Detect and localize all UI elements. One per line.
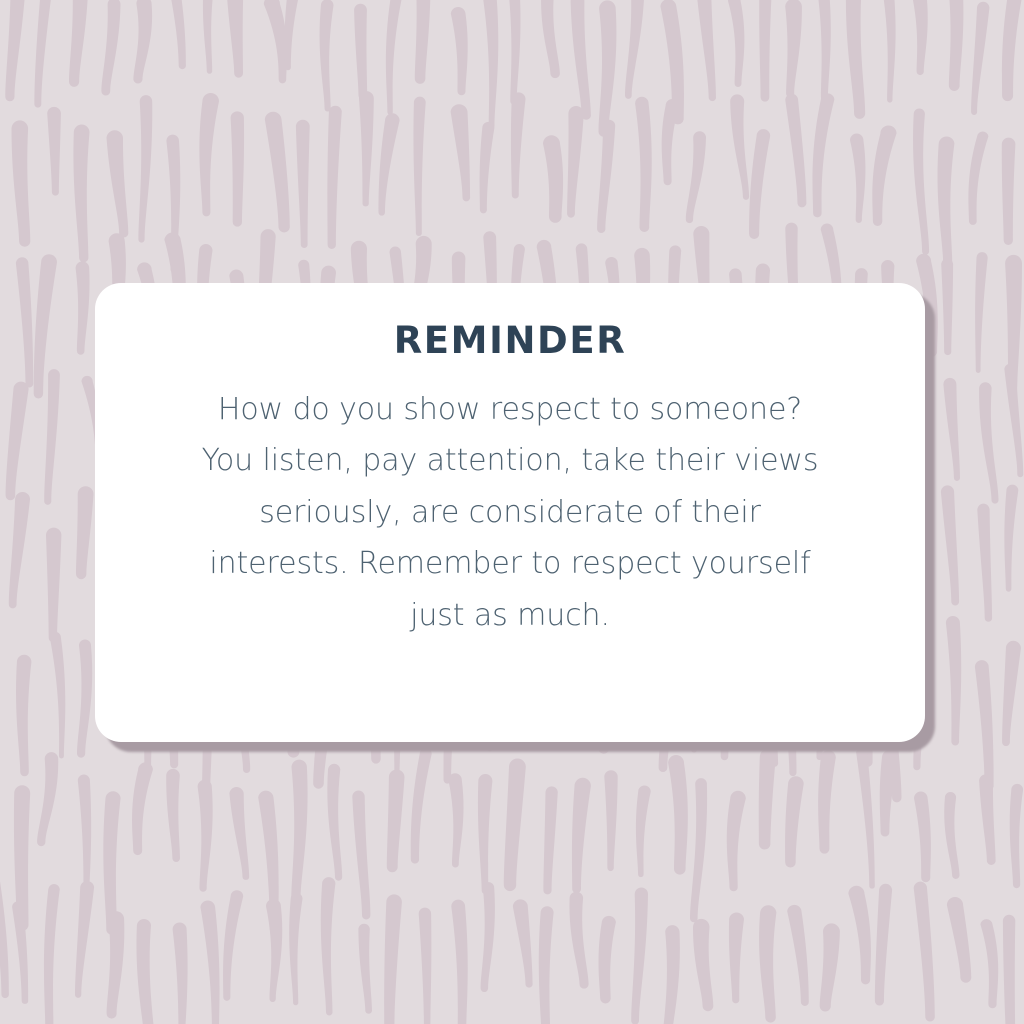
reminder-body-text: How do you show respect to someone? You … [190, 384, 830, 642]
reminder-card: REMINDER How do you show respect to some… [95, 283, 925, 742]
poster-canvas: REMINDER How do you show respect to some… [0, 0, 1024, 1024]
page-title: REMINDER [394, 321, 627, 362]
